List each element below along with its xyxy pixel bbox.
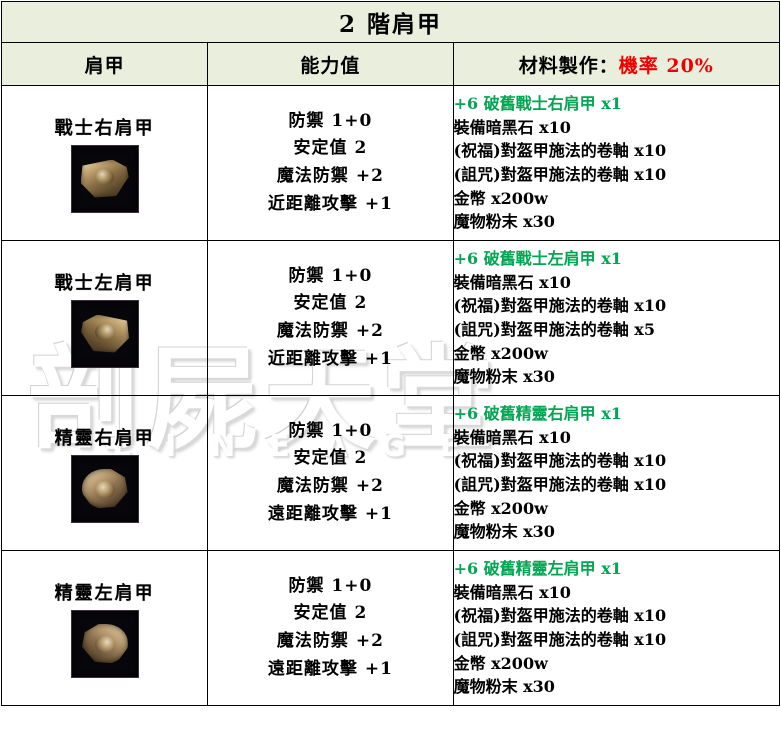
column-header-materials: 材料製作：機率 20% — [453, 43, 779, 86]
stat-line: 安定值 2 — [208, 290, 452, 318]
column-header-rate-label: 機率 20% — [619, 55, 714, 77]
material-result-line: +6 破舊精靈左肩甲 x1 — [454, 557, 779, 581]
material-line: (祝福)對盔甲施法的卷軸 x10 — [454, 139, 779, 163]
column-header-item: 肩甲 — [2, 43, 208, 86]
table-header-row: 肩甲 能力值 材料製作：機率 20% — [2, 43, 780, 86]
stats-cell: 防禦 1+0 安定值 2 魔法防禦 +2 遠距離攻擊 +1 — [208, 396, 453, 551]
material-line: 魔物粉末 x30 — [454, 675, 779, 699]
stat-line: 魔法防禦 +2 — [208, 628, 452, 656]
material-result-line: +6 破舊戰士右肩甲 x1 — [454, 92, 779, 116]
pauldron-shape — [82, 624, 128, 664]
stat-line: 防禦 1+0 — [208, 418, 452, 446]
item-name: 戰士左肩甲 — [2, 269, 207, 295]
elf-right-pauldron-icon — [71, 455, 139, 523]
page-title: 2 階肩甲 — [2, 2, 780, 43]
material-result-line: +6 破舊精靈右肩甲 x1 — [454, 402, 779, 426]
material-line: 裝備暗黑石 x10 — [454, 116, 779, 140]
stat-line: 安定值 2 — [208, 445, 452, 473]
pauldron-shape — [81, 315, 129, 353]
item-name: 戰士右肩甲 — [2, 114, 207, 140]
material-line: 金幣 x200w — [454, 342, 779, 366]
table-title-row: 2 階肩甲 — [2, 2, 780, 43]
column-header-stats: 能力值 — [208, 43, 453, 86]
stat-line: 防禦 1+0 — [208, 573, 452, 601]
page-root: 2 階肩甲 肩甲 能力值 材料製作：機率 20% 戰士右肩甲 防禦 1+0 安定… — [0, 1, 781, 706]
stats-cell: 防禦 1+0 安定值 2 魔法防禦 +2 近距離攻擊 +1 — [208, 86, 453, 241]
material-line: (詛咒)對盔甲施法的卷軸 x10 — [454, 163, 779, 187]
stats-cell: 防禦 1+0 安定值 2 魔法防禦 +2 近距離攻擊 +1 — [208, 241, 453, 396]
material-line: 魔物粉末 x30 — [454, 210, 779, 234]
materials-cell: +6 破舊戰士左肩甲 x1 裝備暗黑石 x10 (祝福)對盔甲施法的卷軸 x10… — [453, 241, 779, 396]
column-header-materials-label: 材料製作： — [519, 55, 619, 77]
stat-line: 魔法防禦 +2 — [208, 318, 452, 346]
stat-line: 安定值 2 — [208, 135, 452, 163]
stat-line: 近距離攻擊 +1 — [208, 346, 452, 374]
pauldron-recipe-table: 2 階肩甲 肩甲 能力值 材料製作：機率 20% 戰士右肩甲 防禦 1+0 安定… — [1, 1, 780, 706]
material-line: 裝備暗黑石 x10 — [454, 581, 779, 605]
warrior-left-pauldron-icon — [71, 300, 139, 368]
stat-line: 安定值 2 — [208, 600, 452, 628]
materials-cell: +6 破舊精靈右肩甲 x1 裝備暗黑石 x10 (祝福)對盔甲施法的卷軸 x10… — [453, 396, 779, 551]
stat-line: 防禦 1+0 — [208, 108, 452, 136]
pauldron-shape — [81, 160, 129, 198]
material-line: 魔物粉末 x30 — [454, 365, 779, 389]
stat-line: 近距離攻擊 +1 — [208, 191, 452, 219]
item-cell: 戰士左肩甲 — [2, 241, 208, 396]
warrior-right-pauldron-icon — [71, 145, 139, 213]
stat-line: 魔法防禦 +2 — [208, 163, 452, 191]
table-row: 戰士右肩甲 防禦 1+0 安定值 2 魔法防禦 +2 近距離攻擊 +1 +6 破… — [2, 86, 780, 241]
material-line: 金幣 x200w — [454, 652, 779, 676]
material-line: (祝福)對盔甲施法的卷軸 x10 — [454, 449, 779, 473]
material-result-line: +6 破舊戰士左肩甲 x1 — [454, 247, 779, 271]
material-line: 裝備暗黑石 x10 — [454, 426, 779, 450]
materials-cell: +6 破舊戰士右肩甲 x1 裝備暗黑石 x10 (祝福)對盔甲施法的卷軸 x10… — [453, 86, 779, 241]
materials-cell: +6 破舊精靈左肩甲 x1 裝備暗黑石 x10 (祝福)對盔甲施法的卷軸 x10… — [453, 551, 779, 706]
material-line: 金幣 x200w — [454, 187, 779, 211]
material-line: (詛咒)對盔甲施法的卷軸 x5 — [454, 318, 779, 342]
material-line: (詛咒)對盔甲施法的卷軸 x10 — [454, 473, 779, 497]
material-line: (詛咒)對盔甲施法的卷軸 x10 — [454, 628, 779, 652]
elf-left-pauldron-icon — [71, 610, 139, 678]
table-row: 精靈左肩甲 防禦 1+0 安定值 2 魔法防禦 +2 遠距離攻擊 +1 +6 破… — [2, 551, 780, 706]
material-line: (祝福)對盔甲施法的卷軸 x10 — [454, 604, 779, 628]
stat-line: 防禦 1+0 — [208, 263, 452, 291]
material-line: 裝備暗黑石 x10 — [454, 271, 779, 295]
pauldron-shape — [82, 469, 128, 509]
item-name: 精靈右肩甲 — [2, 424, 207, 450]
table-row: 精靈右肩甲 防禦 1+0 安定值 2 魔法防禦 +2 遠距離攻擊 +1 +6 破… — [2, 396, 780, 551]
stats-cell: 防禦 1+0 安定值 2 魔法防禦 +2 遠距離攻擊 +1 — [208, 551, 453, 706]
stat-line: 魔法防禦 +2 — [208, 473, 452, 501]
item-cell: 戰士右肩甲 — [2, 86, 208, 241]
item-cell: 精靈左肩甲 — [2, 551, 208, 706]
stat-line: 遠距離攻擊 +1 — [208, 501, 452, 529]
item-cell: 精靈右肩甲 — [2, 396, 208, 551]
material-line: 金幣 x200w — [454, 497, 779, 521]
material-line: (祝福)對盔甲施法的卷軸 x10 — [454, 294, 779, 318]
item-name: 精靈左肩甲 — [2, 579, 207, 605]
stat-line: 遠距離攻擊 +1 — [208, 656, 452, 684]
material-line: 魔物粉末 x30 — [454, 520, 779, 544]
table-row: 戰士左肩甲 防禦 1+0 安定值 2 魔法防禦 +2 近距離攻擊 +1 +6 破… — [2, 241, 780, 396]
